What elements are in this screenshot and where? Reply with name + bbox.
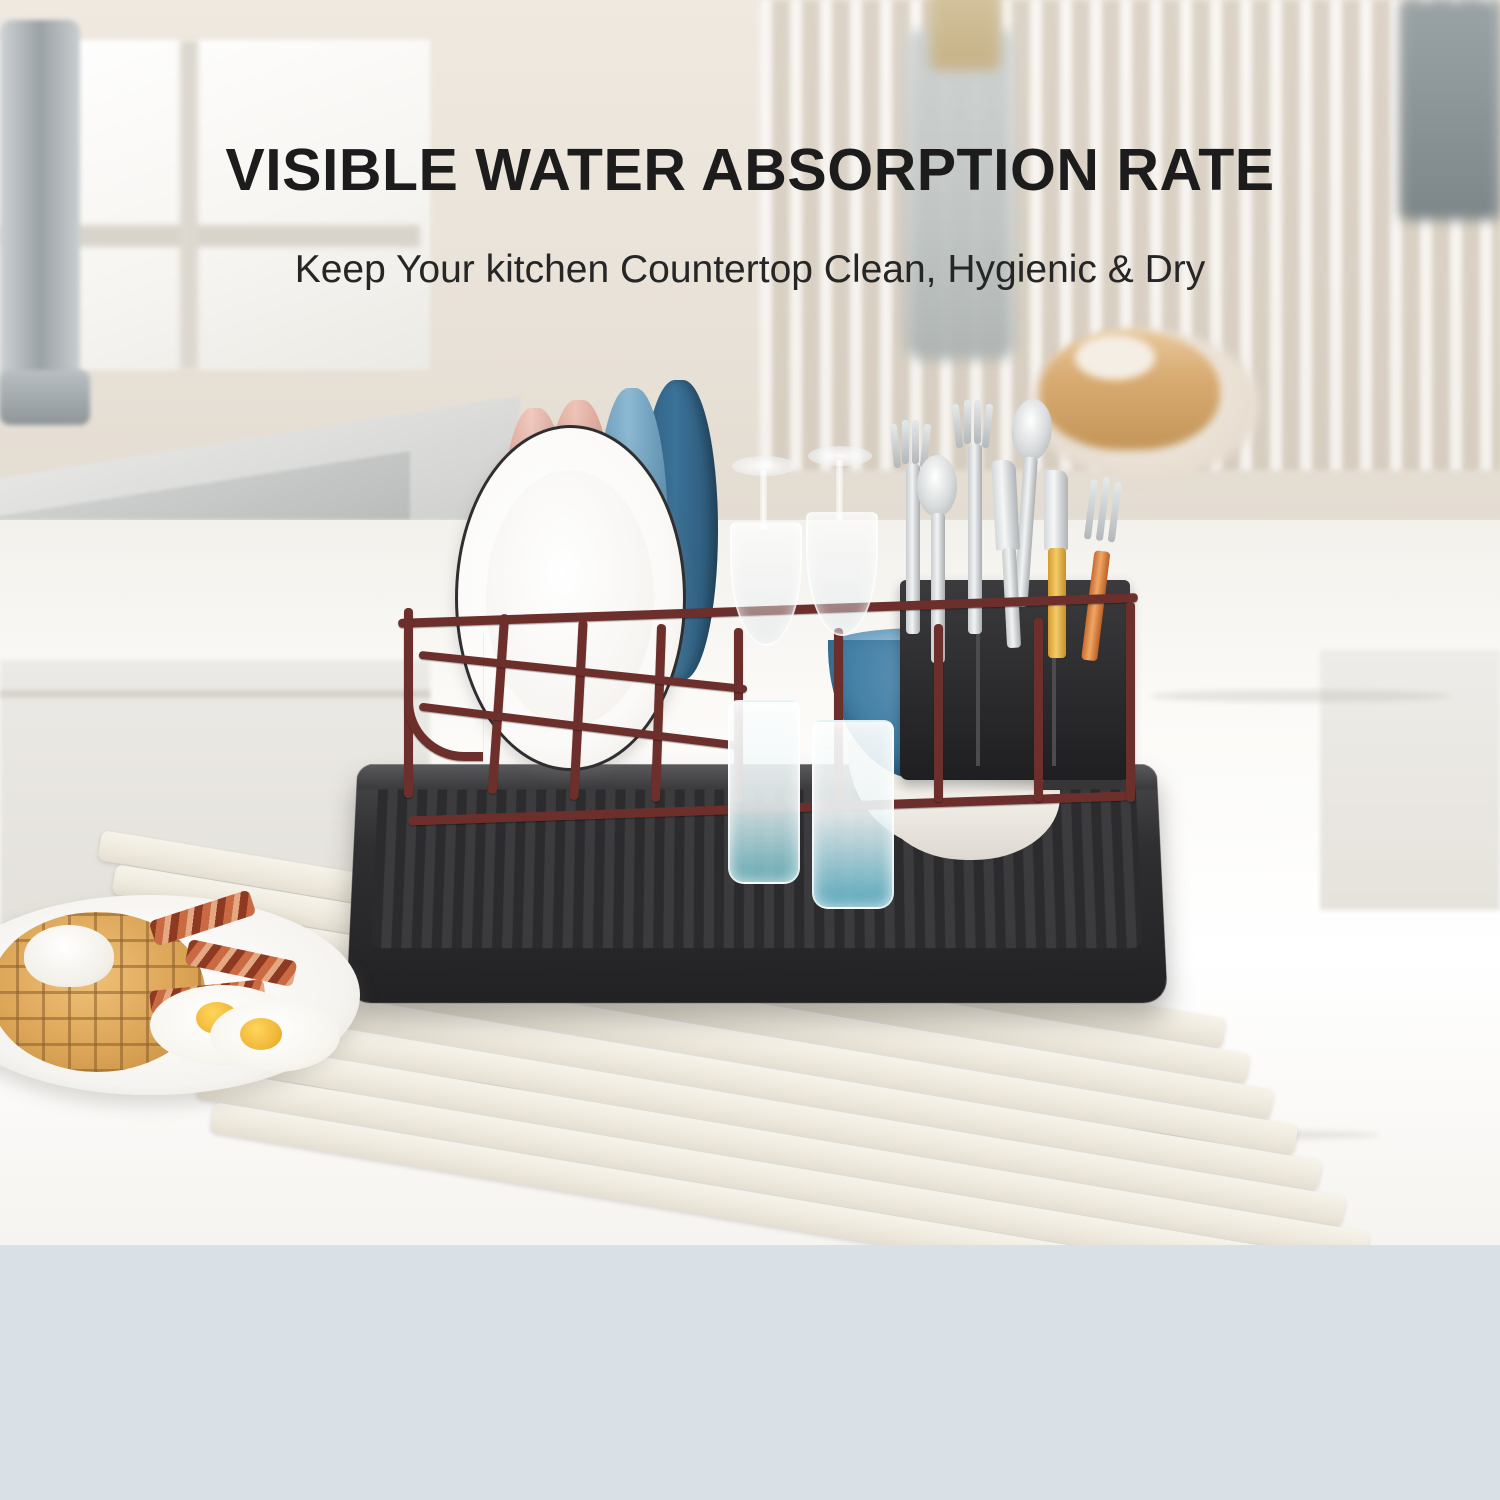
- tumbler-cup-1: [728, 700, 800, 884]
- wine-glass-1: [724, 470, 804, 680]
- rack-wire-rib: [651, 624, 666, 802]
- egg-yolk-2: [240, 1018, 282, 1050]
- cabinet-line: [0, 690, 430, 698]
- knife-2: [1044, 470, 1068, 550]
- rack-wire-rib: [1034, 618, 1043, 802]
- page-subtitle: Keep Your kitchen Countertop Clean, Hygi…: [0, 248, 1500, 292]
- knife-1: [991, 459, 1020, 550]
- faucet-head: [0, 370, 90, 425]
- pancake-cream: [1075, 335, 1155, 380]
- rack-wire-rib: [569, 620, 587, 800]
- page-title: VISIBLE WATER ABSORPTION RATE: [0, 136, 1500, 204]
- hero-photo: VISIBLE WATER ABSORPTION RATE Keep Your …: [0, 0, 1500, 1245]
- rack-wire-rib: [488, 614, 510, 794]
- window-frame-vertical: [180, 40, 198, 370]
- wine-glass-2: [800, 460, 880, 670]
- marble-vein: [1150, 690, 1450, 702]
- whipped-cream: [24, 925, 114, 987]
- wine-glass-bowl: [806, 512, 878, 636]
- wine-glass-stem: [836, 460, 843, 520]
- rack-wire-right-post: [1126, 602, 1135, 802]
- absorption-panel: 5 Sec 30 Sec 60 Sec Quick Drying: [0, 1245, 1500, 1500]
- tumbler-cup-2: [812, 720, 894, 909]
- wine-glass-stem: [760, 470, 767, 530]
- faucet: [0, 20, 80, 420]
- product-infographic: VISIBLE WATER ABSORPTION RATE Keep Your …: [0, 0, 1500, 1500]
- rack-wire-rib: [934, 624, 943, 802]
- utensil-jar-contents: [930, 0, 1000, 70]
- wine-glass-bowl: [730, 522, 802, 646]
- rack-wire-corner: [404, 632, 483, 761]
